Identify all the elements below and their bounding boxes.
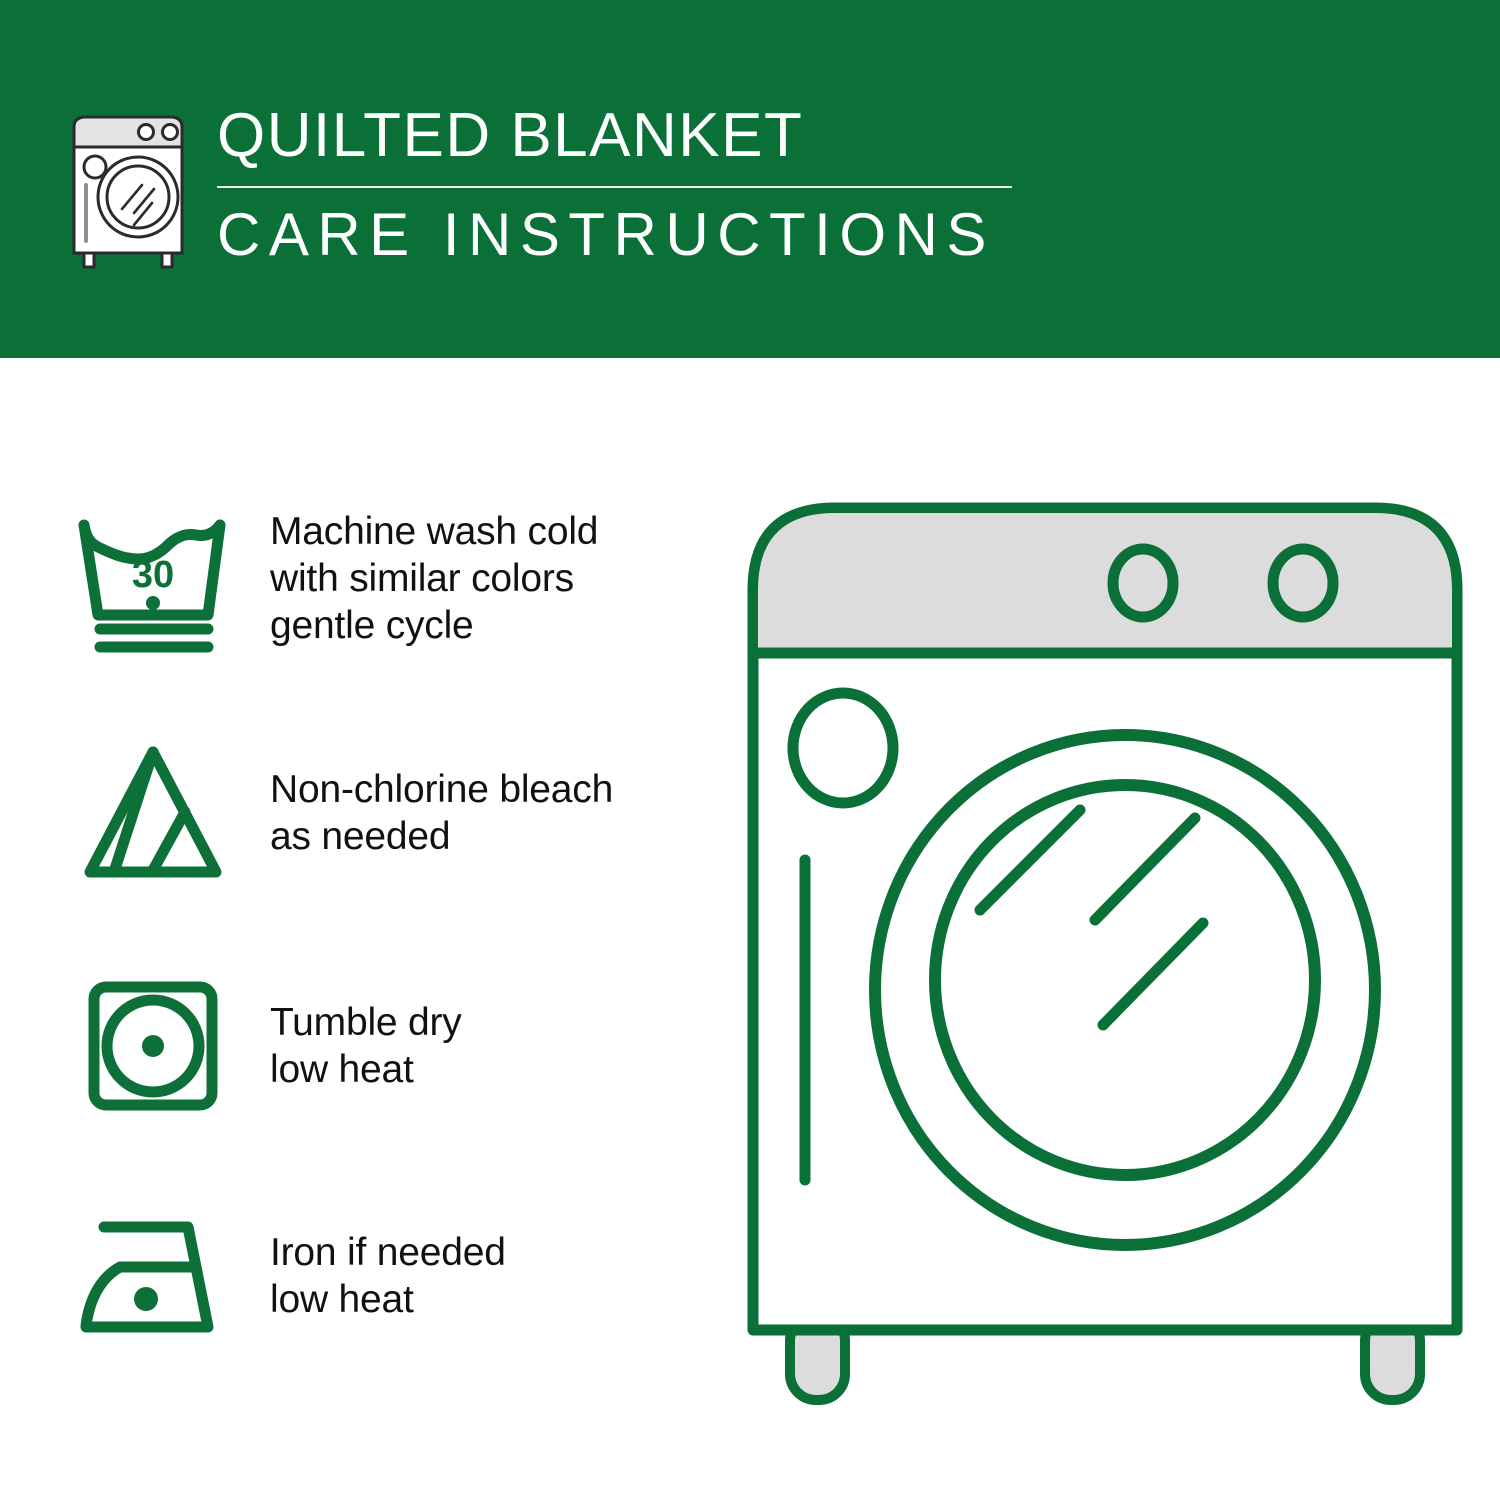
care-item-tumble-dry: Tumble dry low heat	[0, 966, 462, 1126]
drum-inner-ring	[935, 785, 1315, 1175]
iron-icon	[68, 1196, 238, 1356]
care-item-tumble-dry-label: Tumble dry low heat	[270, 999, 462, 1093]
header-banner: QUILTED BLANKET CARE INSTRUCTIONS	[0, 0, 1500, 358]
page-subtitle: CARE INSTRUCTIONS	[215, 200, 1215, 270]
control-knob-right	[1273, 549, 1333, 617]
care-item-iron: Iron if needed low heat	[0, 1196, 506, 1356]
wash-temp-label: 30	[132, 554, 174, 596]
care-instruction-list: 30 Machine wash cold with similar colors…	[0, 358, 730, 1500]
washing-machine-icon	[62, 105, 202, 270]
care-item-iron-label: Iron if needed low heat	[270, 1229, 506, 1323]
detergent-indicator	[793, 693, 893, 803]
tumble-dry-icon	[68, 966, 238, 1126]
care-item-wash: 30 Machine wash cold with similar colors…	[0, 498, 598, 658]
care-item-bleach-label: Non-chlorine bleach as needed	[270, 766, 613, 860]
care-instructions-infographic: QUILTED BLANKET CARE INSTRUCTIONS 30	[0, 0, 1500, 1500]
page-title: QUILTED BLANKET	[215, 100, 1215, 178]
control-knob-left	[1113, 549, 1173, 617]
care-item-bleach: Non-chlorine bleach as needed	[0, 733, 613, 893]
control-panel	[758, 513, 1452, 653]
washing-machine-illustration	[735, 480, 1475, 1430]
bleach-triangle-icon	[68, 733, 238, 893]
care-item-wash-label: Machine wash cold with similar colors ge…	[270, 508, 598, 649]
wash-tub-30-icon: 30	[68, 498, 238, 658]
header-text-block: QUILTED BLANKET CARE INSTRUCTIONS	[215, 100, 1215, 270]
title-divider	[217, 186, 1012, 188]
